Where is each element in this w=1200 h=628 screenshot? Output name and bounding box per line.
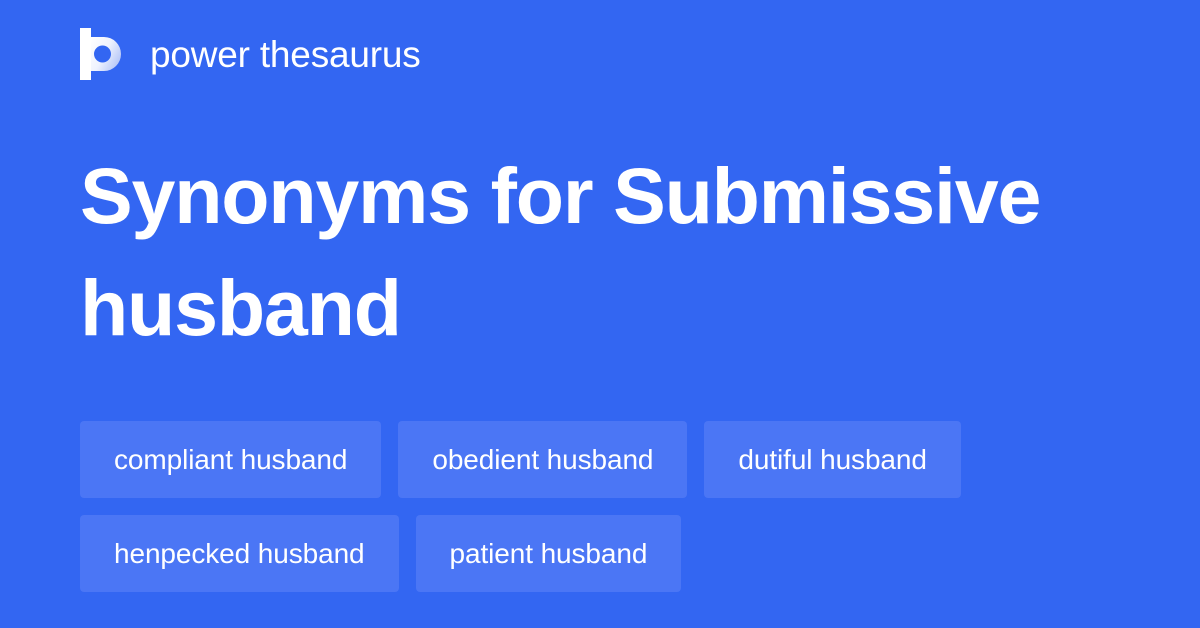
synonym-chip[interactable]: dutiful husband (704, 421, 960, 498)
synonym-chip-label: patient husband (450, 538, 648, 570)
power-thesaurus-b-logo-icon (80, 28, 128, 80)
synonym-chip-label: compliant husband (114, 444, 347, 476)
synonym-chip[interactable]: compliant husband (80, 421, 381, 498)
synonym-chip-label: obedient husband (432, 444, 653, 476)
brand-logo[interactable]: power thesaurus (80, 26, 421, 82)
synonym-chip[interactable]: henpecked husband (80, 515, 399, 592)
synonym-chip-label: dutiful husband (738, 444, 926, 476)
synonym-chip[interactable]: patient husband (416, 515, 682, 592)
synonym-chip-list: compliant husbandobedient husbanddutiful… (80, 421, 1140, 592)
synonym-chip[interactable]: obedient husband (398, 421, 687, 498)
page-title: Synonyms for Submissive husband (80, 140, 1140, 364)
synonym-chip-label: henpecked husband (114, 538, 365, 570)
brand-name: power thesaurus (150, 36, 421, 73)
